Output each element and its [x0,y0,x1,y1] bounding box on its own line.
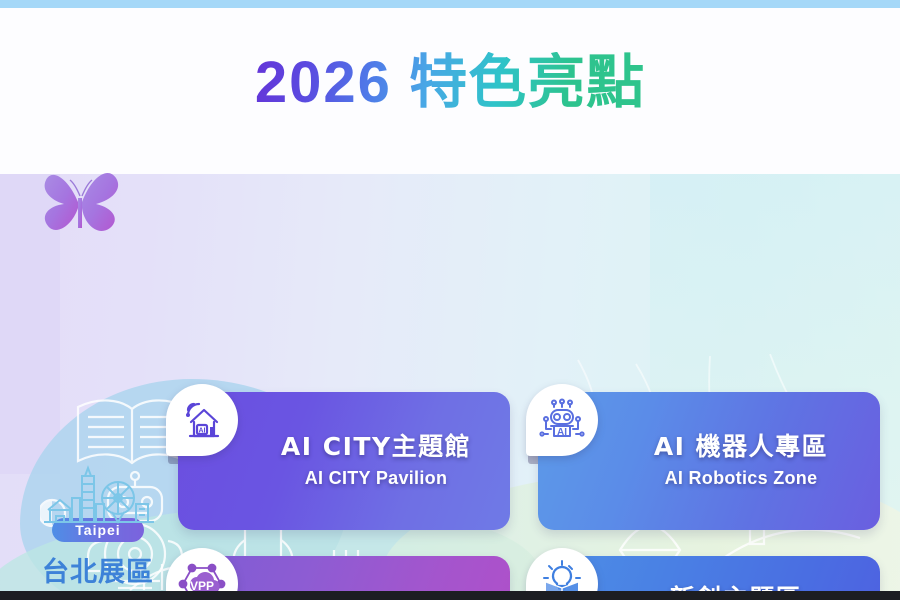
svg-text:AI: AI [557,427,567,438]
card-subtitle: AI Robotics Zone [665,467,818,490]
taipei-zone-block: Taipei 台北展區 [22,464,174,589]
title-text: 特色亮點 [409,48,645,116]
card-title: AI CITY主題館 [281,432,471,462]
card-ai-city-text: AI CITY主題館 AI CITY Pavilion [256,392,496,530]
vpp-cloud-network-icon: VPP [166,548,238,591]
title-year: 2026 [255,50,392,115]
card-startups-text: 新創主題區 Smart Startups Program Innovation … [606,556,866,591]
butterfly-icon [38,166,124,238]
card-title: AI 機器人專區 [654,432,828,462]
svg-text:AI: AI [199,428,206,435]
page-title: 2026 特色亮點 [0,52,900,114]
svg-text:VPP: VPP [190,579,214,591]
card-ai-city[interactable]: AI AI CITY主題館 AI CITY Pavilion [178,392,510,530]
card-subtitle: AI CITY Pavilion [305,467,448,490]
card-ai-robotics[interactable]: AI AI 機器人專區 AI Robotics Zone [538,392,880,530]
highlights-panel: Taipei 台北展區 [0,174,900,591]
bottom-bar [0,591,900,600]
taipei-zone-label: 台北展區 [22,550,174,589]
card-ai-robotics-text: AI 機器人專區 AI Robotics Zone [616,392,866,530]
ai-city-house-icon: AI [166,384,238,456]
card-vpp-text: 虛擬電廠主題館 VPP Pavilion [256,556,496,591]
ai-robot-icon: AI [526,384,598,456]
lightbulb-box-icon [526,548,598,591]
top-accent-bar [0,0,900,8]
card-title: 新創主題區 [670,584,803,591]
card-vpp[interactable]: VPP 虛擬電廠主題館 VPP Pavilion [178,556,510,591]
poster-stage: 2026 特色亮點 [0,0,900,600]
card-startups[interactable]: 新創主題區 Smart Startups Program Innovation … [538,556,880,591]
